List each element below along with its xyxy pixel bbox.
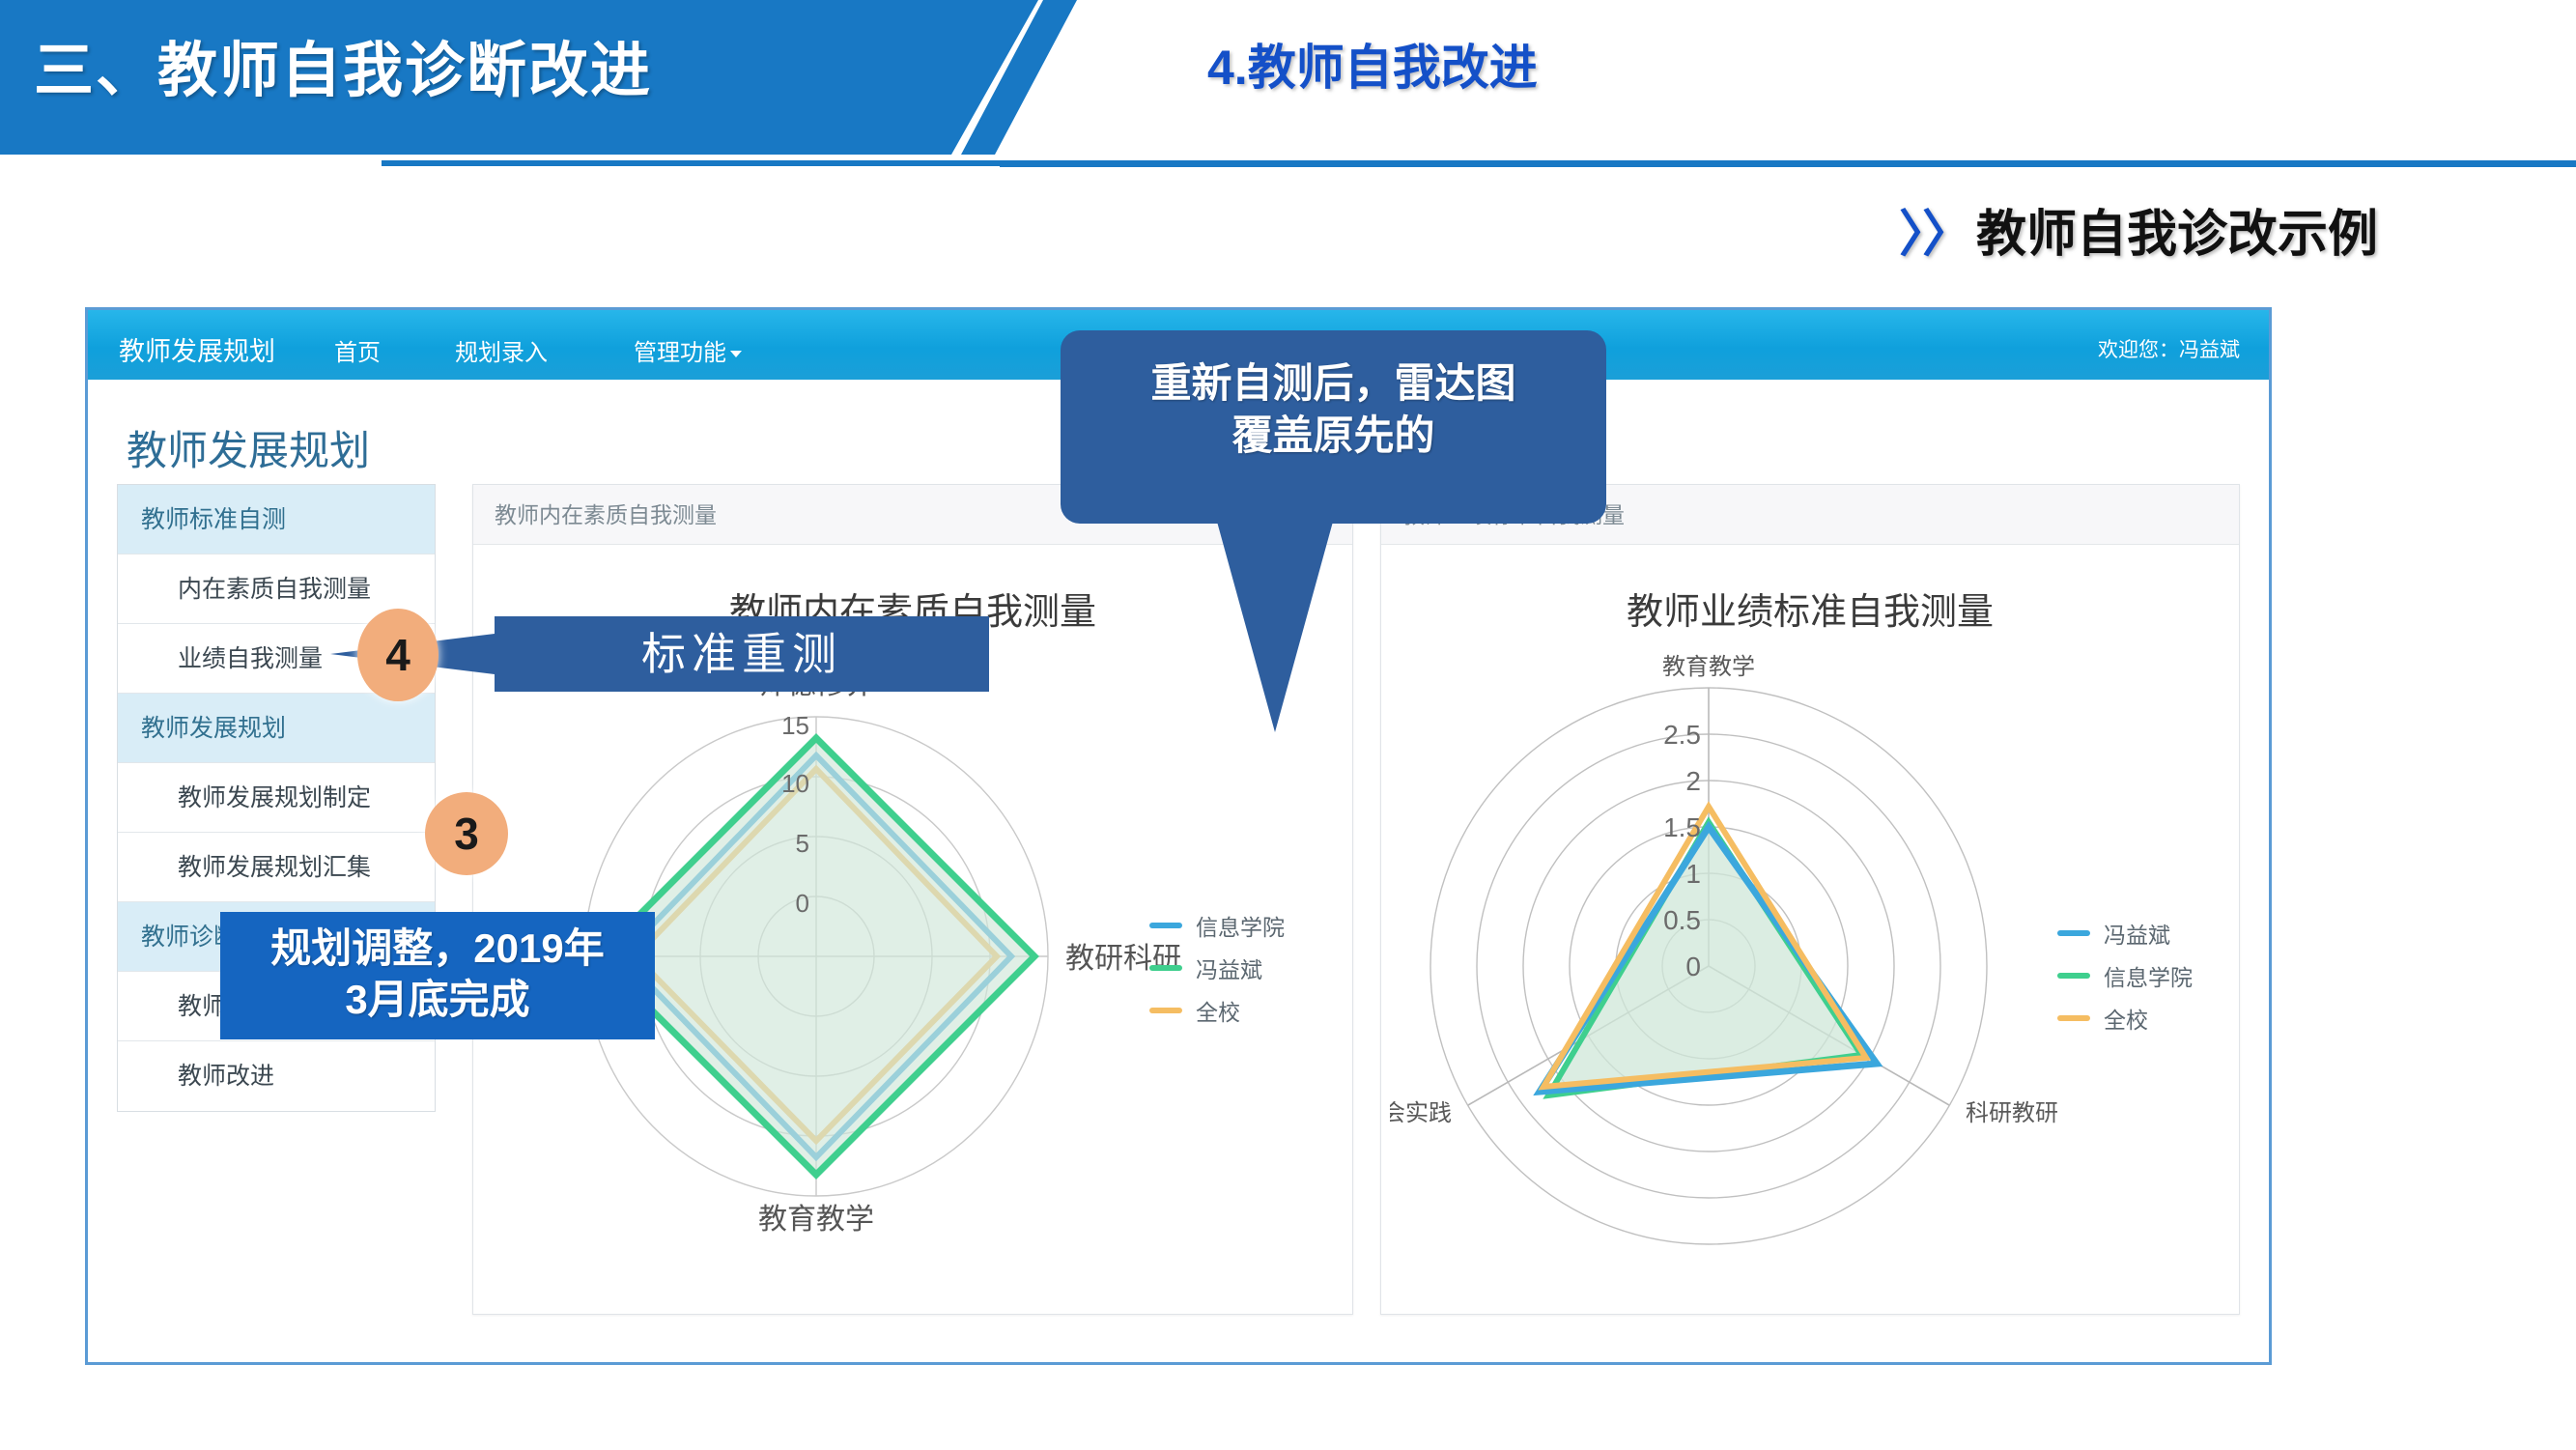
sidebar-item-plan-collect[interactable]: 教师发展规划汇集 [118, 833, 435, 902]
svg-text:5: 5 [796, 829, 809, 858]
svg-text:0.5: 0.5 [1663, 905, 1701, 935]
welcome-user-label: 欢迎您：冯益斌 [2098, 334, 2240, 363]
legend-row-teacher-r[interactable]: 冯益斌 [2057, 912, 2193, 954]
callout-box-line1: 规划调整，2019年 [220, 924, 655, 975]
callout-flag-label: 标准重测 [641, 629, 842, 679]
legend-label-school: 全校 [1196, 994, 1240, 1027]
chevron-right-icon: 〉〉 [1899, 207, 1970, 263]
page-title: 教师发展规划 [127, 418, 370, 477]
legend-label-college: 信息学院 [1196, 909, 1285, 942]
legend-label-college-r: 信息学院 [2104, 959, 2193, 992]
svg-text:0: 0 [1685, 952, 1701, 981]
legend-swatch-teacher-r [2057, 930, 2090, 936]
legend-row-college-r[interactable]: 信息学院 [2057, 954, 2193, 997]
legend-label-school-r: 全校 [2104, 1002, 2148, 1035]
example-caption: 〉〉教师自我诊改示例 [1899, 193, 2378, 266]
svg-text:2: 2 [1685, 766, 1701, 796]
nav-item-home[interactable]: 首页 [334, 333, 381, 367]
legend-performance: 冯益斌 信息学院 全校 [2057, 912, 2193, 1039]
radar-series-right-college [1548, 822, 1861, 1095]
svg-text:1: 1 [1685, 859, 1701, 889]
callout-box-line2: 3月底完成 [220, 975, 655, 1026]
callout-bubble-tail [1217, 522, 1333, 732]
legend-row-college[interactable]: 信息学院 [1149, 904, 1285, 947]
subsection-title: 4.教师自我改进 [1207, 29, 1538, 99]
svg-text:10: 10 [781, 769, 809, 798]
svg-text:教育教学: 教育教学 [758, 1204, 874, 1236]
legend-row-teacher[interactable]: 冯益斌 [1149, 947, 1285, 989]
app-brand[interactable]: 教师发展规划 [119, 330, 275, 368]
example-caption-label: 教师自我诊改示例 [1976, 207, 2378, 263]
svg-text:科研教研: 科研教研 [1966, 1100, 2058, 1126]
legend-swatch-school [1149, 1008, 1182, 1013]
legend-row-school-r[interactable]: 全校 [2057, 997, 2193, 1039]
legend-swatch-teacher [1149, 965, 1182, 971]
header-rule-left [382, 160, 1072, 166]
section-title: 三、教师自我诊断改进 [34, 21, 652, 108]
step-badge-4: 4 [357, 609, 439, 701]
nav-item-management-label: 管理功能 [634, 340, 726, 366]
svg-text:1.5: 1.5 [1663, 812, 1701, 842]
panel-performance-body: 教师业绩标准自我测量 [1381, 545, 2239, 1314]
svg-text:教育教学: 教育教学 [1662, 654, 1755, 680]
nav-item-management[interactable]: 管理功能 [634, 333, 742, 367]
slide-header: 三、教师自我诊断改进 4.教师自我改进 [0, 0, 2576, 169]
svg-text:0: 0 [796, 889, 809, 918]
nav-item-plan-entry[interactable]: 规划录入 [455, 333, 548, 367]
sidebar-item-plan-create[interactable]: 教师发展规划制定 [118, 763, 435, 833]
sidebar-group-standard-self-test[interactable]: 教师标准自测 [118, 485, 435, 554]
radar-series-left-teacher [598, 738, 1034, 1175]
callout-bubble-retest: 重新自测后，雷达图 覆盖原先的 [1061, 330, 1606, 524]
step-badge-3: 3 [425, 792, 508, 875]
callout-flag-standard-retest: 标准重测 [495, 616, 989, 692]
callout-box-plan-adjust: 规划调整，2019年 3月底完成 [220, 912, 655, 1039]
legend-label-teacher-r: 冯益斌 [2104, 917, 2170, 950]
sidebar-item-teacher-improve[interactable]: 教师改进 [118, 1041, 435, 1111]
svg-text:社会实践: 社会实践 [1390, 1100, 1452, 1126]
svg-text:2.5: 2.5 [1663, 720, 1701, 750]
legend-inner-quality: 信息学院 冯益斌 全校 [1149, 904, 1285, 1032]
callout-bubble-line1: 重新自测后，雷达图 [1061, 357, 1606, 410]
chart-title-performance: 教师业绩标准自我测量 [1381, 582, 2239, 635]
svg-text:15: 15 [781, 711, 809, 740]
legend-swatch-college [1149, 923, 1182, 928]
callout-bubble-line2: 覆盖原先的 [1061, 410, 1606, 462]
chevron-down-icon [730, 351, 742, 357]
panel-performance: 教师业绩标准自我测量 教师业绩标准自我测量 [1380, 484, 2240, 1315]
header-rule-right [1000, 160, 2576, 167]
sidebar-group-development-plan[interactable]: 教师发展规划 [118, 694, 435, 763]
legend-swatch-college-r [2057, 973, 2090, 979]
legend-label-teacher: 冯益斌 [1196, 952, 1262, 984]
legend-swatch-school-r [2057, 1015, 2090, 1021]
legend-row-school[interactable]: 全校 [1149, 989, 1285, 1032]
